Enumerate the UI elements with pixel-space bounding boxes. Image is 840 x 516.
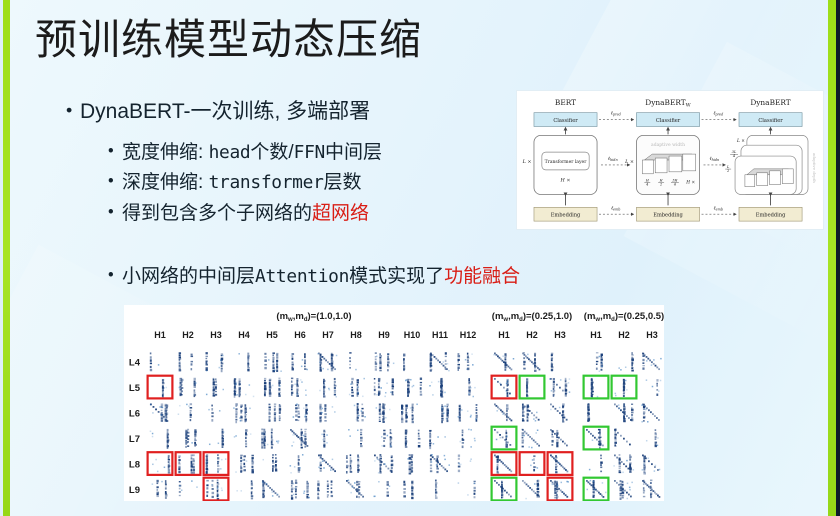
attention-cell [642,455,661,475]
attention-cell [317,480,333,499]
column-header-H6: H6 [294,330,306,340]
loss-label-pred: ℓpred [611,111,621,117]
attention-cell [264,352,282,372]
attention-cell [375,352,395,371]
column-header-H11: H11 [432,330,448,340]
attention-cell [522,404,540,422]
attention-cell [381,429,392,448]
attention-cell [206,352,224,372]
attention-cell [321,430,327,448]
attention-cell [646,379,662,396]
attention-cell [407,454,413,474]
attention-cell [373,481,390,497]
attention-cell [293,403,308,422]
attention-cell [618,352,633,371]
adaptive-width-label: adaptive width [651,142,685,148]
attention-cell [209,429,224,448]
column-header-H7: H7 [322,330,334,340]
bullet-text: DynaBERT-一次训练, 多端部署 [80,100,370,123]
attention-cell [150,352,160,371]
attention-cell [522,352,540,372]
attention-cell [589,455,603,473]
attention-cell [236,480,253,499]
column-header-H2: H2 [618,330,630,340]
slide-canvas: 预训练模型动态压缩 •DynaBERT-一次训练, 多端部署 •宽度伸缩: he… [0,0,840,516]
attention-cell [269,403,282,421]
embedding-label: Embedding [756,213,786,219]
attention-cell [206,378,224,397]
column-header-H9: H9 [378,330,390,340]
attention-cell [405,430,421,448]
column-header-H1: H1 [498,330,510,340]
right-edge-strip [836,0,840,516]
classifier-label: Classifier [553,118,578,124]
bullet-text-mono: head [209,142,251,163]
column-header-H3: H3 [210,330,222,340]
attention-cell [551,353,554,372]
column-header-H3: H3 [554,330,566,340]
dynabert-w-layers-label: L × [624,159,634,165]
adaptive-depth-stack [735,135,808,194]
column-header-H1: H1 [590,330,602,340]
attention-cell [614,480,633,500]
bullet-text-highlight: 超网络 [312,203,369,224]
attention-cell [522,480,540,500]
row-label-L7: L7 [129,434,140,445]
loss-label-emb: ℓemb [714,205,723,211]
attention-cell [319,404,335,423]
bert-layers-label: L × [522,159,532,165]
attention-cell [346,454,360,473]
attention-cell [586,429,604,449]
column-header-H12: H12 [460,330,477,340]
attention-cell [234,378,255,398]
row-label-L6: L6 [129,408,140,419]
attention-cell [435,480,438,499]
attention-cell [614,429,631,447]
loss-label-pred: ℓpred [713,111,723,117]
bullet-text-highlight: 功能融合 [444,266,520,287]
attention-cell [646,429,659,447]
attention-cell [290,454,304,473]
svg-text:4: 4 [645,183,648,187]
bullet-dynabert: •DynaBERT-一次训练, 多端部署 [66,96,370,126]
attention-cell [530,455,538,471]
attention-cell [178,454,195,473]
attention-cell [429,378,446,398]
bullet-width-scaling: •宽度伸缩: head个数/FFN中间层 [108,138,382,166]
attention-heatmap-svg: (mw,md)=(1.0,1.0)H1H2H3H4H5H6H7H8H9H10H1… [124,305,664,501]
highlight-box-red-L8-H2 [520,452,545,475]
bullet-text-mid: 模式实现了 [349,266,444,287]
bullet-dot-icon: • [108,138,122,164]
attention-cell [162,379,167,398]
panel-header: (mw,md)=(0.25,0.5) [584,311,664,323]
attention-cell [549,378,570,397]
arch-title-dynabert-w: DynaBERTW [645,98,691,108]
attention-cell [641,404,659,423]
attention-cell [430,454,450,473]
attention-cell [179,378,197,397]
attention-cell [642,353,662,371]
attention-cell [374,454,393,474]
attention-cell [458,404,478,422]
attention-cell [403,481,413,500]
attention-cell [596,352,603,372]
arch-title-dynabert: DynaBERT [750,98,790,107]
attention-cell [152,480,168,499]
attention-cell [152,455,170,474]
svg-text:4: 4 [673,183,676,187]
attention-cell [550,403,568,422]
bullet-text-prefix: 深度伸缩: [122,172,209,193]
attention-cell [291,480,310,500]
attention-cell [206,454,227,474]
svg-text:H ×: H × [685,181,695,186]
svg-text:2: 2 [659,183,662,187]
panel-header: (mw,md)=(0.25,1.0) [492,311,572,323]
attention-cell [458,455,472,473]
attention-cell [346,480,364,499]
embedding-label: Embedding [551,213,581,219]
attention-cell [460,429,476,448]
bullet-text-mono2: FFN [294,142,325,163]
right-accent-bar [828,0,836,516]
bullet-text-suffix: 中间层 [325,142,382,163]
attention-cell [494,480,512,498]
loss-label-hidn: ℓhidn [710,156,720,162]
column-header-H2: H2 [182,330,194,340]
attention-cell [587,403,590,422]
attention-cell [234,429,252,447]
row-label-L5: L5 [129,383,141,394]
attention-cell [319,378,337,398]
bullet-text-prefix: 宽度伸缩: [122,142,209,163]
attention-cell [374,378,394,397]
bullet-text-prefix: 小网络的中间层 [122,266,255,287]
row-label-L9: L9 [129,485,140,496]
attention-cell [550,480,569,499]
column-header-H10: H10 [404,330,421,340]
attention-cell [401,404,418,424]
attention-cell [376,403,391,423]
attention-cell [494,429,511,448]
attention-cell [349,352,356,370]
loss-label-hidn: ℓhidn [608,156,618,162]
row-label-L4: L4 [129,357,141,368]
attention-cell [591,378,598,397]
highlight-box-green-L5-H2 [520,376,545,399]
attention-cell [522,429,540,449]
bullet-attention-fusion: •小网络的中间层Attention模式实现了功能融合 [108,262,520,290]
attention-cell [494,378,511,397]
dynabert-architecture-figure: BERT DynaBERTW DynaBERT Classifier Class… [516,90,824,230]
attention-pattern-figure: (mw,md)=(1.0,1.0)H1H2H3H4H5H6H7H8H9H10H1… [124,305,664,501]
attention-cell [263,454,278,472]
bullet-dot-icon: • [108,262,122,288]
attention-cell [615,379,628,397]
attention-cell [430,352,450,371]
attention-cell [179,352,193,371]
bullet-dot-icon: • [108,199,122,225]
bullet-text-suffix: 层数 [324,172,362,193]
transformer-layer-label: Transformer layer [545,159,588,165]
attention-cell [150,429,170,449]
attention-cell [458,481,476,499]
bullet-text-mono: Attention [255,266,349,287]
attention-cell [614,403,634,422]
attention-cell [208,405,220,422]
classifier-label: Classifier [758,118,783,124]
embedding-label: Embedding [653,213,683,219]
bert-heads-label: H × [560,178,571,184]
bullet-dot-icon: • [108,168,122,194]
attention-cell [238,353,249,372]
attention-cell [458,353,474,371]
panel-header: (mw,md)=(1.0,1.0) [276,311,351,323]
attention-cell [317,353,337,372]
attention-cell [290,429,308,449]
attention-cell [526,378,528,397]
page-title: 预训练模型动态压缩 [35,14,422,66]
attention-cell [403,354,405,372]
attention-cell [318,454,336,472]
svg-text:L ×: L × [736,139,745,144]
attention-cell [429,430,446,449]
adaptive-depth-label: adaptive depth [812,153,817,183]
highlight-box-green-L5-H1 [584,376,609,399]
bullet-dot-icon: • [66,96,80,124]
svg-text:4: 4 [732,154,735,158]
attention-cell [264,378,281,397]
bullet-text-mono: transformer [209,172,324,193]
attention-cell [291,353,308,370]
loss-label-emb: ℓemb [611,205,620,211]
attention-cell [291,378,307,397]
attention-cell [493,353,514,371]
bullet-text-mid: 个数/ [250,142,293,163]
bullet-supernet: •得到包含多个子网络的超网络 [108,199,369,227]
attention-cell [494,455,512,475]
left-accent-bar [3,0,10,516]
attention-cell [150,403,168,421]
attention-cell [348,429,363,447]
attention-cell [185,429,197,448]
attention-cell [613,454,634,473]
adaptive-width-blocks [642,154,695,174]
column-header-H2: H2 [526,330,538,340]
column-header-H4: H4 [238,330,250,340]
attention-cell [261,429,279,449]
column-header-H1: H1 [154,330,166,340]
classifier-label: Classifier [656,118,681,124]
attention-cell [586,480,606,498]
attention-cell [468,378,476,397]
attention-cell [349,378,365,397]
bullet-text-prefix: 得到包含多个子网络的 [122,203,312,224]
bullet-depth-scaling: •深度伸缩: transformer层数 [108,168,362,196]
attention-cell [642,480,660,499]
attention-cell [405,378,422,397]
column-header-H8: H8 [350,330,362,340]
attention-cell [494,404,512,422]
attention-cell [235,455,254,474]
column-header-H5: H5 [266,330,278,340]
column-header-H3: H3 [646,330,658,340]
arch-title-bert: BERT [555,98,576,107]
attention-cell [178,403,193,421]
attention-cell [262,480,280,498]
highlight-box-red-L5-H1 [148,376,173,399]
attention-cell [233,403,251,423]
attention-cell [441,404,449,424]
attention-cell [550,455,568,474]
row-label-L8: L8 [129,459,140,470]
attention-cell [354,403,366,422]
attention-cell [550,429,568,447]
attention-cell [179,480,198,496]
svg-text:2: 2 [726,169,730,173]
attention-cell [206,480,222,501]
architecture-svg: BERT DynaBERTW DynaBERT Classifier Class… [517,91,823,229]
